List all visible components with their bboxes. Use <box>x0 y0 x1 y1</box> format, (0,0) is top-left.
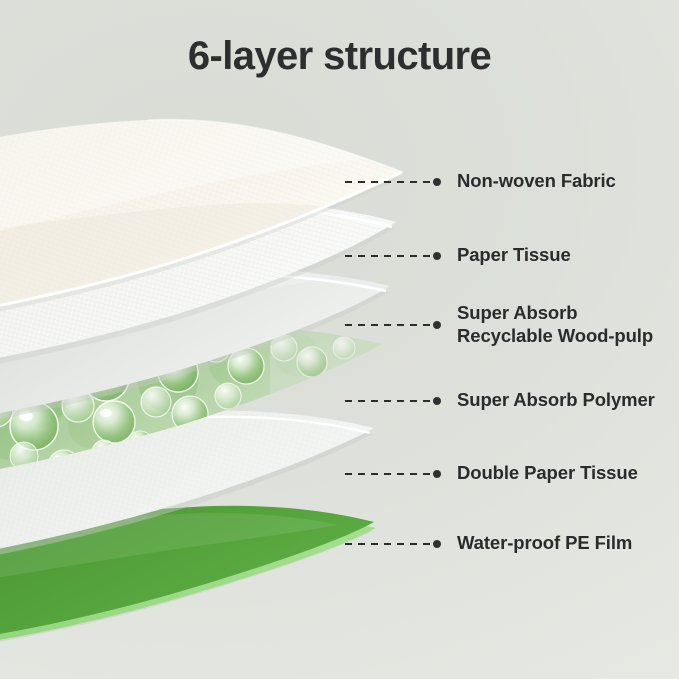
layer-label-2: Paper Tissue <box>457 243 571 266</box>
leader-dot-5 <box>433 470 441 478</box>
layer-structure-infographic: 6-layer structure <box>0 0 679 679</box>
layer-label-3: Super AbsorbRecyclable Wood-pulp <box>457 301 653 347</box>
layer-label-1: Non-woven Fabric <box>457 169 616 192</box>
page-title: 6-layer structure <box>0 34 679 79</box>
leader-line-6 <box>345 543 437 545</box>
leader-line-4 <box>345 400 437 402</box>
leader-line-5 <box>345 473 437 475</box>
leader-dot-2 <box>433 252 441 260</box>
layer-stack-illustration <box>0 96 460 656</box>
leader-line-3 <box>345 324 437 326</box>
leader-dot-3 <box>433 321 441 329</box>
layer-label-3-line-2: Recyclable Wood-pulp <box>457 325 653 346</box>
leader-line-2 <box>345 255 437 257</box>
leader-dot-6 <box>433 540 441 548</box>
layer-label-5: Double Paper Tissue <box>457 461 638 484</box>
leader-line-1 <box>345 181 437 183</box>
layer-label-4: Super Absorb Polymer <box>457 388 655 411</box>
layer-1-non-woven-fabric <box>0 96 460 656</box>
leader-dot-4 <box>433 397 441 405</box>
layer-label-6: Water-proof PE Film <box>457 531 632 554</box>
leader-dot-1 <box>433 178 441 186</box>
layer-label-3-line-1: Super Absorb <box>457 302 577 323</box>
